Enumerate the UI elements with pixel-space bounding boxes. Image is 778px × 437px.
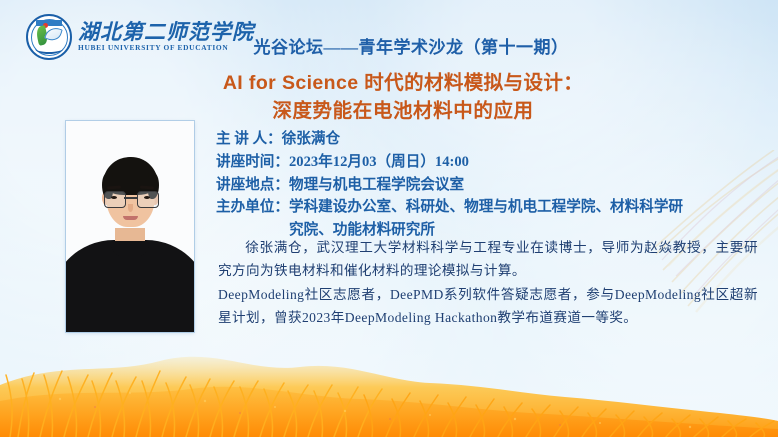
host-value-line1: 学科建设办公室、科研处、物理与机电工程学院、材料科学研 (289, 196, 764, 219)
grass-band-icon (0, 327, 778, 437)
poster-canvas: 湖北第二师范学院 HUBEI UNIVERSITY OF EDUCATION 光… (0, 0, 778, 437)
place-label: 讲座地点： (216, 174, 289, 197)
time-value: 2023年12月03（周日）14:00 (289, 151, 764, 174)
info-row-speaker: 主 讲 人： 徐张满仓 (216, 128, 764, 151)
speaker-value: 徐张满仓 (282, 128, 764, 151)
lecture-info: 主 讲 人： 徐张满仓 讲座时间： 2023年12月03（周日）14:00 讲座… (216, 128, 764, 242)
info-row-time: 讲座时间： 2023年12月03（周日）14:00 (216, 151, 764, 174)
bio-paragraph-2: DeepModeling社区志愿者，DeePMD系列软件答疑志愿者，参与Deep… (218, 287, 758, 325)
bio-paragraph-1: 徐张满仓，武汉理工大学材料科学与工程专业在读博士，导师为赵焱教授，主要研究方向为… (218, 236, 758, 283)
title-line-1: AI for Science 时代的材料模拟与设计： (28, 70, 778, 98)
place-value: 物理与机电工程学院会议室 (289, 174, 764, 197)
speaker-label: 主 讲 人： (216, 128, 282, 151)
host-label: 主办单位： (216, 196, 289, 219)
speaker-bio: 徐张满仓，武汉理工大学材料科学与工程专业在读博士，导师为赵焱教授，主要研究方向为… (218, 236, 758, 330)
info-row-host: 主办单位： 学科建设办公室、科研处、物理与机电工程学院、材料科学研 (216, 196, 764, 219)
forum-subtitle: 光谷论坛——青年学术沙龙（第十一期） (0, 33, 778, 58)
speaker-portrait-photo (66, 121, 194, 332)
page-title: AI for Science 时代的材料模拟与设计： 深度势能在电池材料中的应用 (0, 70, 778, 125)
speaker-photo-frame (66, 121, 194, 332)
time-label: 讲座时间： (216, 151, 289, 174)
info-row-place: 讲座地点： 物理与机电工程学院会议室 (216, 174, 764, 197)
